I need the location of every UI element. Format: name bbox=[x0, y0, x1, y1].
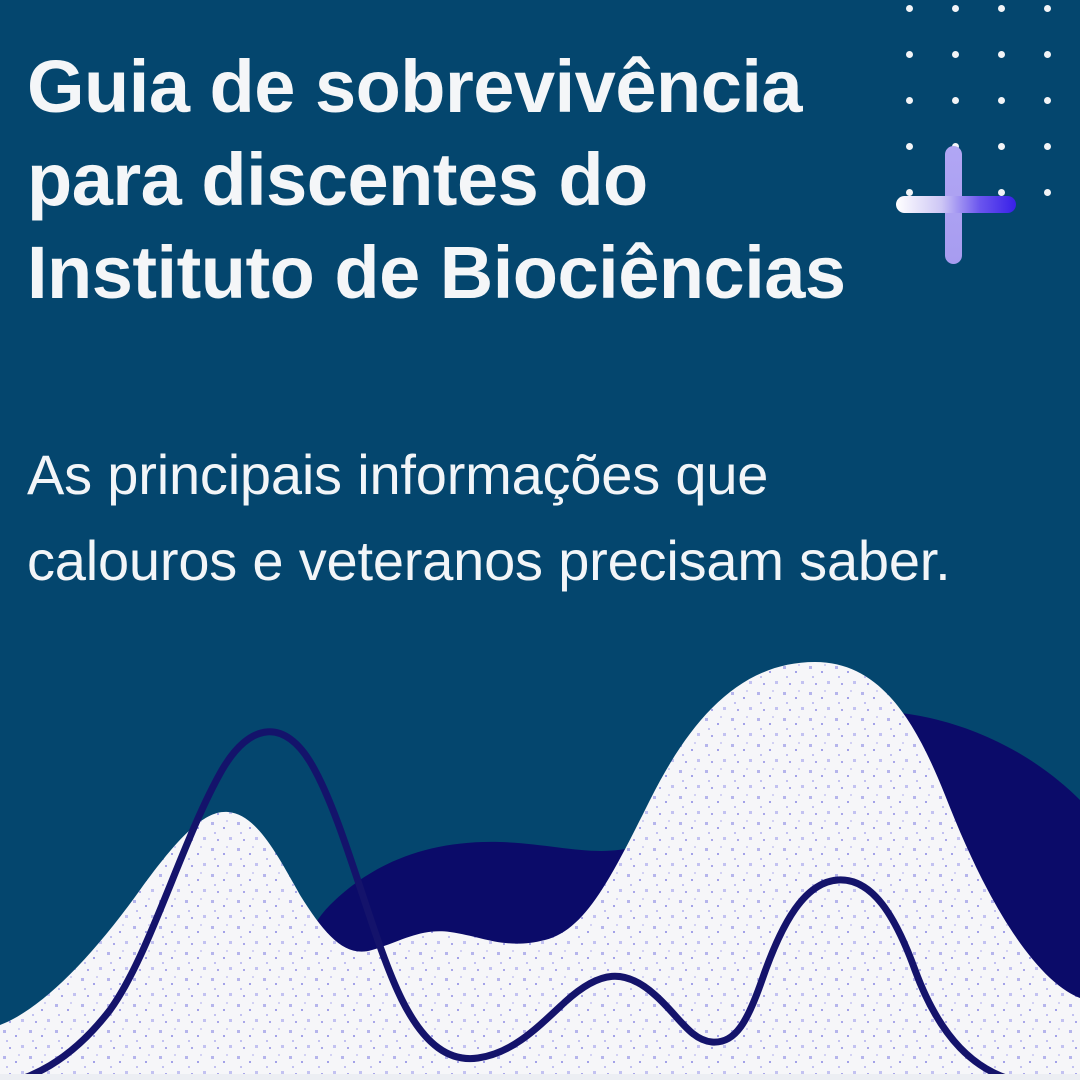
grid-dot bbox=[998, 51, 1005, 58]
speckled-area bbox=[0, 610, 1080, 1080]
plus-icon bbox=[896, 146, 1016, 264]
grid-dot bbox=[1044, 97, 1051, 104]
grid-dot bbox=[1044, 143, 1051, 150]
page-subtitle: As principais informações que calouros e… bbox=[27, 432, 1057, 604]
subheadline-line-1: As principais informações que bbox=[27, 432, 1057, 518]
grid-dot bbox=[1044, 51, 1051, 58]
grid-dot bbox=[906, 5, 913, 12]
page-title: Guia de sobrevivência para discentes do … bbox=[27, 40, 887, 319]
grid-dot bbox=[906, 51, 913, 58]
headline-line-1: Guia de sobrevivência bbox=[27, 40, 887, 133]
grid-dot bbox=[998, 5, 1005, 12]
grid-dot bbox=[998, 97, 1005, 104]
grid-dot bbox=[952, 5, 959, 12]
grid-dot bbox=[952, 97, 959, 104]
bottom-edge-band bbox=[0, 1074, 1080, 1080]
subheadline-line-2: calouros e veteranos precisam saber. bbox=[27, 518, 1057, 604]
headline-line-3: Instituto de Biociências bbox=[27, 226, 887, 319]
wave-illustration bbox=[0, 610, 1080, 1080]
poster-canvas: Guia de sobrevivência para discentes do … bbox=[0, 0, 1080, 1080]
grid-dot bbox=[906, 97, 913, 104]
headline-line-2: para discentes do bbox=[27, 133, 887, 226]
plus-horizontal-bar bbox=[896, 196, 1016, 213]
grid-dot bbox=[1044, 5, 1051, 12]
grid-dot bbox=[1044, 189, 1051, 196]
grid-dot bbox=[952, 51, 959, 58]
